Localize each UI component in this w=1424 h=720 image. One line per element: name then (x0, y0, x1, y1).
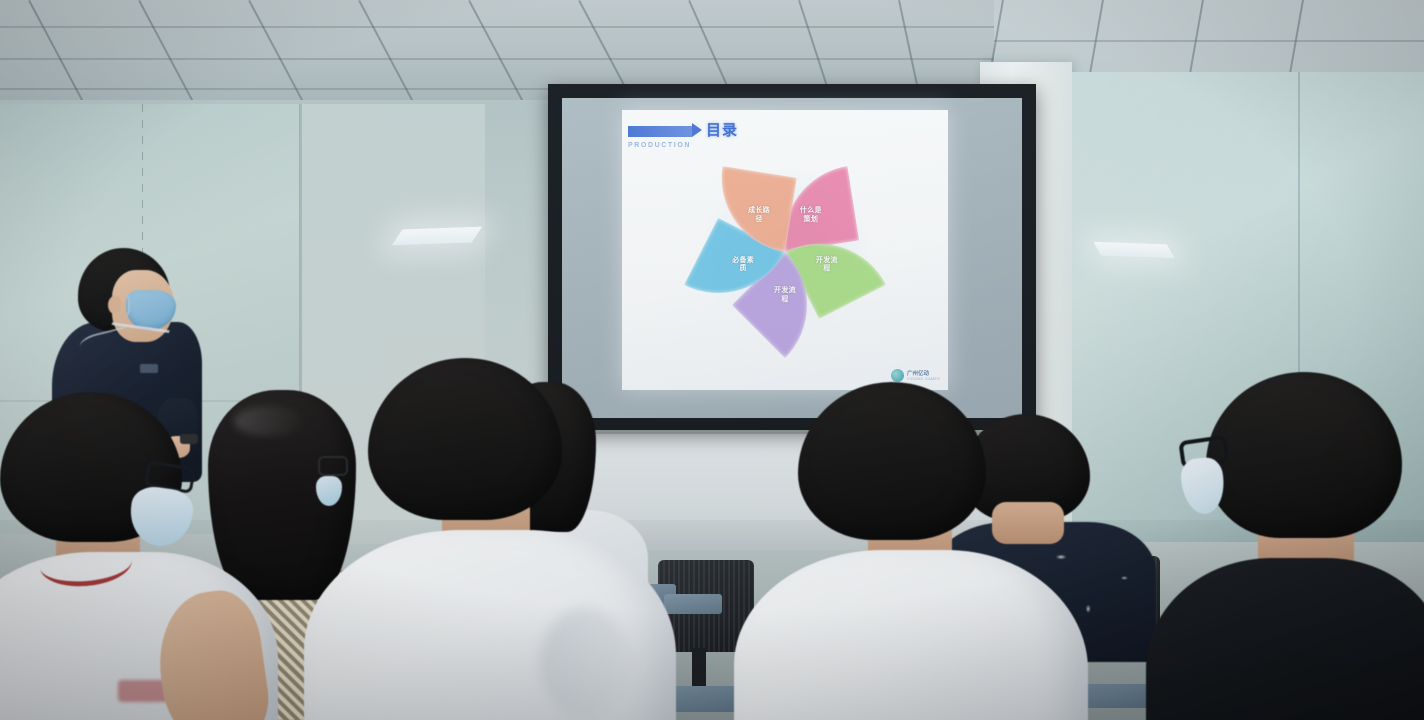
short-black-hair (1206, 372, 1402, 538)
slide-accent-bar (628, 126, 692, 137)
fabric-fold (540, 608, 630, 718)
short-black-hair (368, 358, 562, 520)
led-panel-light-left (392, 227, 483, 246)
projected-slide: 目录 PRODUCTION 什么是策划开发流程开发流程必备素质成长路径 广州亿动… (622, 110, 948, 390)
pie-segment-label: 开发流程 (765, 287, 805, 304)
slide-header: 目录 PRODUCTION (628, 124, 948, 160)
pie-segment-label: 成长路径 (739, 207, 779, 224)
presenter-mask-strap (114, 292, 130, 318)
led-panel-light-right (1093, 242, 1175, 259)
classroom-photo: 目录 PRODUCTION 什么是策划开发流程开发流程必备素质成长路径 广州亿动… (0, 0, 1424, 720)
slide-title: 目录 (706, 119, 738, 140)
black-tshirt (1146, 558, 1424, 720)
logo-subtitle: YIDONG GAMES (907, 377, 940, 381)
slide-arrow-icon (692, 123, 702, 137)
pie-segment-label: 必备素质 (723, 257, 763, 274)
logo-mark-icon (891, 369, 904, 382)
audience-center-left-white (330, 358, 660, 720)
white-tshirt (734, 550, 1088, 720)
slide-subtitle: PRODUCTION (628, 142, 691, 149)
pie-segment-label: 开发流程 (807, 257, 847, 274)
empty-chair (664, 594, 744, 704)
audience-center-right-white (760, 382, 1080, 720)
slide-logo: 广州亿动 YIDONG GAMES (891, 369, 940, 382)
presenter-chest-logo (140, 364, 158, 373)
short-black-hair (798, 382, 986, 540)
pie-segment-label: 什么是策划 (791, 207, 831, 224)
slide-pie-diagram: 什么是策划开发流程开发流程必备素质成长路径 (710, 177, 860, 327)
audience-right-black (1186, 372, 1424, 720)
audience-left-white (0, 392, 278, 720)
